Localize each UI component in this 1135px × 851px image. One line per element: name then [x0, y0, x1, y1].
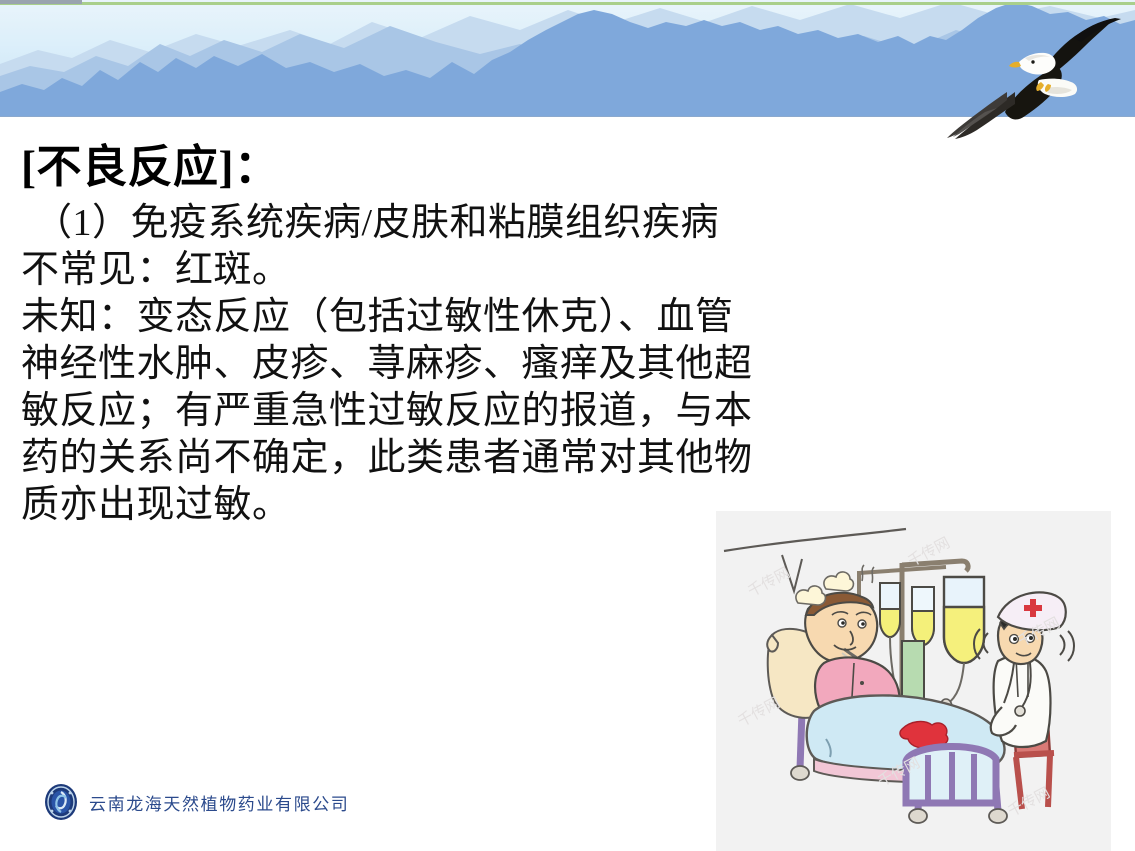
body-line: 不常见：红斑。 [21, 247, 901, 294]
footer-branding: 云南龙海天然植物药业有限公司 [44, 783, 349, 821]
body-line: 敏反应；有严重急性过敏反应的报道，与本 [21, 388, 901, 435]
bald-eagle-icon [945, 16, 1135, 142]
body-line: 未知：变态反应（包括过敏性休克）、血管 [21, 294, 901, 341]
body-line: 神经性水肿、皮疹、荨麻疹、瘙痒及其他超 [21, 341, 901, 388]
top-left-gray-tab [0, 0, 82, 4]
company-name: 云南龙海天然植物药业有限公司 [89, 790, 349, 815]
body-text-block: （1）免疫系统疾病/皮肤和粘膜组织疾病 不常见：红斑。 未知：变态反应（包括过敏… [21, 200, 901, 529]
company-seal-logo-icon [44, 783, 78, 821]
body-line: （1）免疫系统疾病/皮肤和粘膜组织疾病 [21, 200, 901, 247]
body-line: 药的关系尚不确定，此类患者通常对其他物 [21, 435, 901, 482]
page-title: [不良反应]： [21, 141, 279, 193]
top-green-rule [0, 2, 1135, 5]
hospital-cartoon-image: 千传网 千传网 千传网 千传网 千传网 千传网 [716, 511, 1111, 851]
